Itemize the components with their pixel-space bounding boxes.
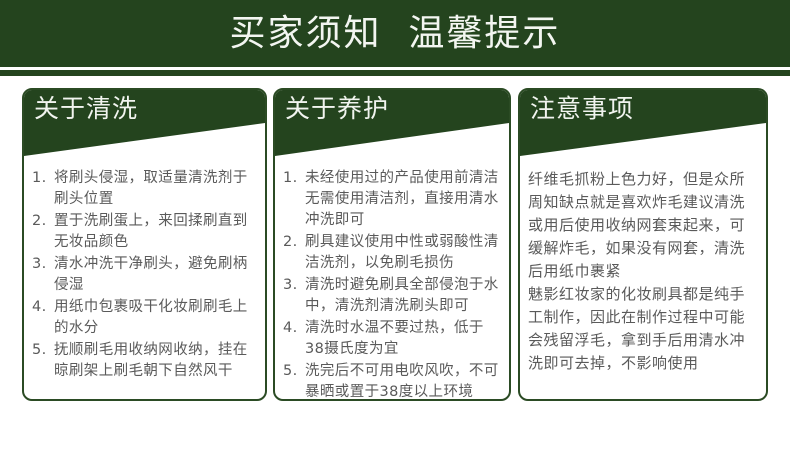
list-item-marker: 5. bbox=[32, 340, 54, 361]
list-item: 5.抚顺刷毛用收纳网收纳，挂在晾刷架上刷毛朝下自然风干 bbox=[32, 340, 259, 382]
card-precautions: 注意事项 纤维毛抓粉上色力好，但是众所周知缺点就是喜欢炸毛建议清洗或用后使用收纳… bbox=[518, 88, 768, 401]
page-title: 买家须知 温馨提示 bbox=[230, 14, 561, 54]
list-item-marker: 1. bbox=[283, 168, 305, 189]
list-item-marker: 3. bbox=[32, 254, 54, 275]
card-body: 1.将刷头侵湿，取适量清洗剂于刷头位置 2.置于洗刷蛋上，来回揉刷直到无妆品颜色… bbox=[24, 156, 265, 382]
list-item: 3.清洗时避免刷具全部侵泡于水中，清洗剂清洗刷头即可 bbox=[283, 275, 503, 317]
list-item-text: 清洗时避免刷具全部侵泡于水中，清洗剂清洗刷头即可 bbox=[305, 277, 499, 314]
card-title: 注意事项 bbox=[530, 94, 634, 124]
header-divider-rule bbox=[0, 70, 790, 76]
card-title: 关于养护 bbox=[285, 94, 389, 124]
list-item-marker: 4. bbox=[283, 318, 305, 339]
list-item: 2.置于洗刷蛋上，来回揉刷直到无妆品颜色 bbox=[32, 211, 259, 253]
list-item-text: 置于洗刷蛋上，来回揉刷直到无妆品颜色 bbox=[54, 213, 248, 250]
list-item-marker: 4. bbox=[32, 297, 54, 318]
list-item-text: 洗完后不可用电吹风吹，不可暴晒或置于38度以上环境 bbox=[305, 363, 499, 400]
list-item-text: 将刷头侵湿，取适量清洗剂于刷头位置 bbox=[54, 170, 248, 207]
list-item-text: 刷具建议使用中性或弱酸性清洁洗剂，以免刷毛损伤 bbox=[305, 234, 499, 271]
card-title: 关于清洗 bbox=[34, 94, 138, 124]
list-item: 1.将刷头侵湿，取适量清洗剂于刷头位置 bbox=[32, 168, 259, 210]
list-item-text: 用纸巾包裹吸干化妆刷刷毛上的水分 bbox=[54, 299, 248, 336]
list-item: 4.用纸巾包裹吸干化妆刷刷毛上的水分 bbox=[32, 297, 259, 339]
list-item-marker: 2. bbox=[283, 232, 305, 253]
list-item-marker: 5. bbox=[283, 361, 305, 382]
card-body: 纤维毛抓粉上色力好，但是众所周知缺点就是喜欢炸毛建议清洗或用后使用收纳网套束起来… bbox=[520, 156, 766, 375]
card-banner: 注意事项 bbox=[520, 90, 766, 156]
paragraph: 纤维毛抓粉上色力好，但是众所周知缺点就是喜欢炸毛建议清洗或用后使用收纳网套束起来… bbox=[528, 168, 760, 283]
page-header-band: 买家须知 温馨提示 bbox=[0, 0, 790, 67]
card-about-cleaning: 关于清洗 1.将刷头侵湿，取适量清洗剂于刷头位置 2.置于洗刷蛋上，来回揉刷直到… bbox=[22, 88, 267, 401]
list-item-text: 未经使用过的产品使用前清洁无需使用清洁剂，直接用清水冲洗即可 bbox=[305, 170, 499, 228]
promo-info-panel: 买家须知 温馨提示 关于清洗 1.将刷头侵湿，取适量清洗剂于刷头位置 2.置于洗… bbox=[0, 0, 790, 450]
precautions-paragraphs: 纤维毛抓粉上色力好，但是众所周知缺点就是喜欢炸毛建议清洗或用后使用收纳网套束起来… bbox=[528, 168, 760, 375]
list-item-text: 抚顺刷毛用收纳网收纳，挂在晾刷架上刷毛朝下自然风干 bbox=[54, 342, 248, 379]
list-item-marker: 1. bbox=[32, 168, 54, 189]
list-item: 2.刷具建议使用中性或弱酸性清洁洗剂，以免刷毛损伤 bbox=[283, 232, 503, 274]
paragraph: 魅影红妆家的化妆刷具都是纯手工制作，因此在制作过程中可能会残留浮毛，拿到手后用清… bbox=[528, 283, 760, 375]
list-item-text: 清水冲洗干净刷头，避免刷柄侵湿 bbox=[54, 256, 248, 293]
list-item-marker: 3. bbox=[283, 275, 305, 296]
card-body: 1.未经使用过的产品使用前清洁无需使用清洁剂，直接用清水冲洗即可 2.刷具建议使… bbox=[275, 156, 509, 401]
list-item: 4.清洗时水温不要过热，低于38摄氏度为宜 bbox=[283, 318, 503, 360]
list-item-text: 清洗时水温不要过热，低于38摄氏度为宜 bbox=[305, 320, 484, 357]
card-banner: 关于养护 bbox=[275, 90, 509, 156]
card-about-maintenance: 关于养护 1.未经使用过的产品使用前清洁无需使用清洁剂，直接用清水冲洗即可 2.… bbox=[273, 88, 511, 401]
list-item: 5.洗完后不可用电吹风吹，不可暴晒或置于38度以上环境 bbox=[283, 361, 503, 401]
cleaning-steps-list: 1.将刷头侵湿，取适量清洗剂于刷头位置 2.置于洗刷蛋上，来回揉刷直到无妆品颜色… bbox=[32, 168, 259, 382]
list-item-marker: 2. bbox=[32, 211, 54, 232]
list-item: 3.清水冲洗干净刷头，避免刷柄侵湿 bbox=[32, 254, 259, 296]
info-cards-row: 关于清洗 1.将刷头侵湿，取适量清洗剂于刷头位置 2.置于洗刷蛋上，来回揉刷直到… bbox=[0, 88, 790, 408]
list-item: 1.未经使用过的产品使用前清洁无需使用清洁剂，直接用清水冲洗即可 bbox=[283, 168, 503, 231]
card-banner: 关于清洗 bbox=[24, 90, 265, 156]
maintenance-steps-list: 1.未经使用过的产品使用前清洁无需使用清洁剂，直接用清水冲洗即可 2.刷具建议使… bbox=[283, 168, 503, 401]
